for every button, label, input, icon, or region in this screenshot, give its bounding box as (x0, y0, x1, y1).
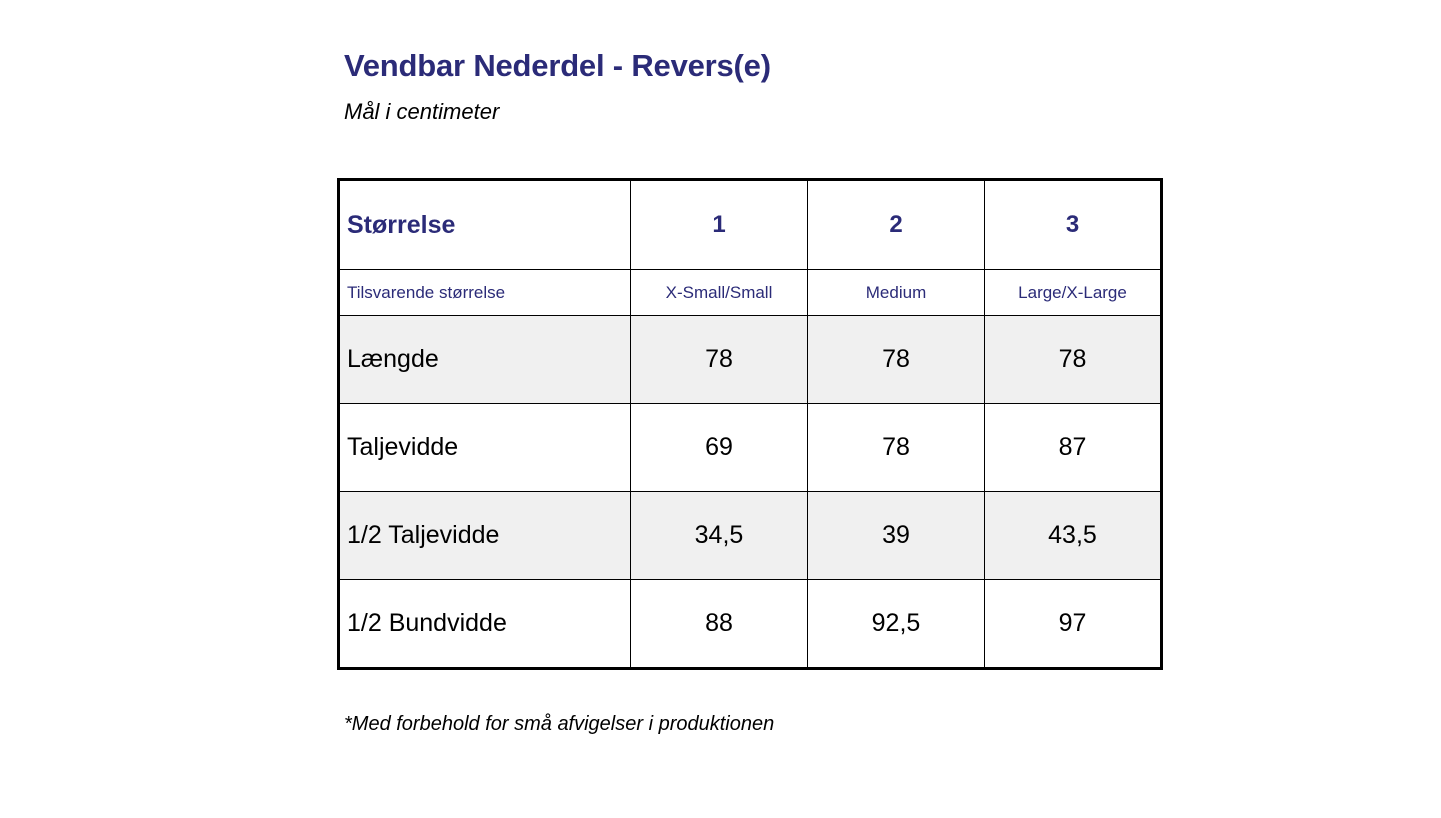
size-chart-table: Størrelse 1 2 3 Tilsvarende størrelse X-… (337, 178, 1163, 670)
measurement-label: 1/2 Taljevidde (339, 492, 631, 580)
footnote: *Med forbehold for små afvigelser i prod… (344, 713, 774, 736)
measurement-value: 78 (808, 316, 985, 404)
equivalent-size-value-2: Medium (808, 270, 985, 316)
header-size-3: 3 (985, 180, 1162, 270)
measurement-value: 39 (808, 492, 985, 580)
table-row: Taljevidde 69 78 87 (339, 404, 1162, 492)
header-size-1: 1 (631, 180, 808, 270)
page-subtitle: Mål i centimeter (344, 99, 499, 125)
equivalent-size-row: Tilsvarende størrelse X-Small/Small Medi… (339, 270, 1162, 316)
table-header-row: Størrelse 1 2 3 (339, 180, 1162, 270)
measurement-value: 97 (985, 580, 1162, 669)
measurement-label: 1/2 Bundvidde (339, 580, 631, 669)
size-chart-page: Vendbar Nederdel - Revers(e) Mål i centi… (0, 0, 1441, 818)
equivalent-size-value-3: Large/X-Large (985, 270, 1162, 316)
measurement-value: 92,5 (808, 580, 985, 669)
measurement-value: 88 (631, 580, 808, 669)
table-row: 1/2 Taljevidde 34,5 39 43,5 (339, 492, 1162, 580)
measurement-value: 69 (631, 404, 808, 492)
measurement-label: Taljevidde (339, 404, 631, 492)
equivalent-size-label: Tilsvarende størrelse (339, 270, 631, 316)
measurement-value: 78 (985, 316, 1162, 404)
measurement-value: 34,5 (631, 492, 808, 580)
table-row: Længde 78 78 78 (339, 316, 1162, 404)
equivalent-size-value-1: X-Small/Small (631, 270, 808, 316)
header-size-label: Størrelse (339, 180, 631, 270)
measurement-value: 78 (631, 316, 808, 404)
measurement-value: 87 (985, 404, 1162, 492)
measurement-label: Længde (339, 316, 631, 404)
measurement-value: 78 (808, 404, 985, 492)
header-size-2: 2 (808, 180, 985, 270)
measurement-value: 43,5 (985, 492, 1162, 580)
table-row: 1/2 Bundvidde 88 92,5 97 (339, 580, 1162, 669)
page-title: Vendbar Nederdel - Revers(e) (344, 48, 771, 84)
